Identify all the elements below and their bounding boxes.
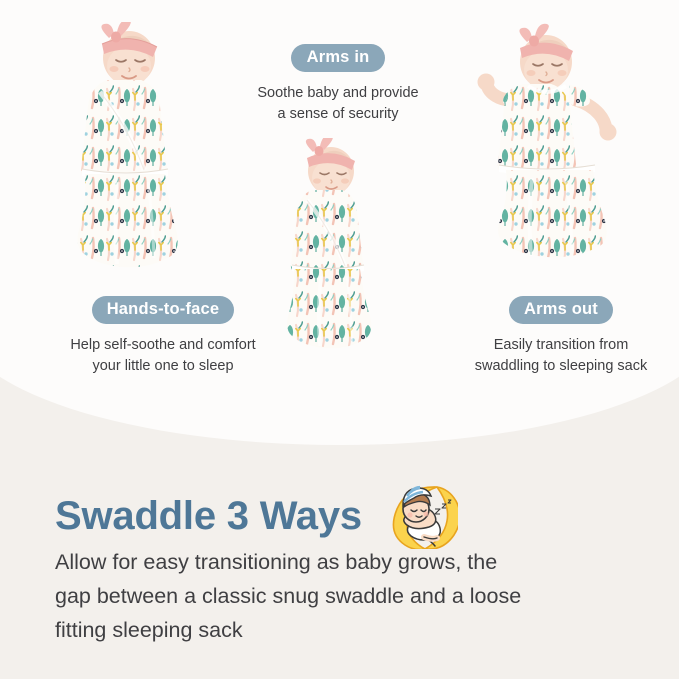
feature-hands-to-face: Hands-to-face Help self-soothe and comfo… <box>8 296 318 377</box>
badge-hands-to-face: Hands-to-face <box>92 296 235 324</box>
summary-body-text: Allow for easy transitioning as baby gro… <box>55 546 645 648</box>
headline-row: Swaddle 3 Ways <box>55 483 458 549</box>
feature-arms-in: Arms in Soothe baby and provide a sense … <box>218 44 458 125</box>
caption-arms-in: Soothe baby and provide a sense of secur… <box>218 83 458 125</box>
caption-hands-to-face: Help self-soothe and comfort your little… <box>8 335 318 377</box>
sleeping-baby-on-moon-icon <box>380 483 458 549</box>
caption-arms-out: Easily transition from swaddling to slee… <box>443 335 679 377</box>
photo-hands-to-face <box>62 22 242 297</box>
badge-arms-out: Arms out <box>509 296 613 324</box>
badge-arms-in: Arms in <box>291 44 386 72</box>
page-title: Swaddle 3 Ways <box>55 496 362 536</box>
summary-section: Swaddle 3 Ways <box>0 445 679 679</box>
feature-section: Hands-to-face Help self-soothe and comfo… <box>0 0 679 445</box>
feature-arms-out: Arms out Easily transition from swaddlin… <box>443 296 679 377</box>
photo-arms-out <box>466 22 646 294</box>
